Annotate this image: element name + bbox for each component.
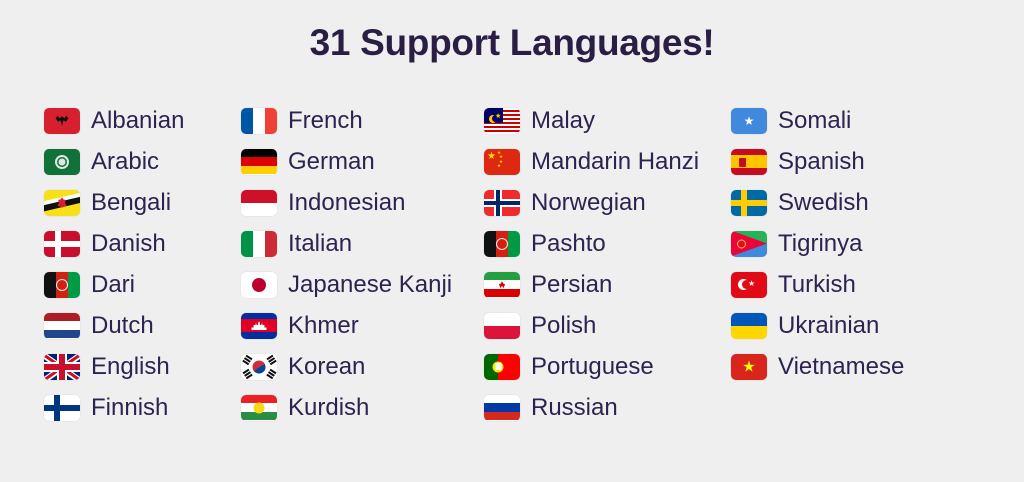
language-label: Bengali: [91, 189, 171, 217]
language-item[interactable]: Portuguese: [484, 346, 731, 387]
language-label: Kurdish: [288, 394, 369, 422]
russia-flag-icon: [484, 395, 520, 421]
finland-flag-icon: [44, 395, 80, 421]
poland-flag-icon: [484, 313, 520, 339]
turkey-flag-icon: ★: [731, 272, 767, 298]
language-label: Indonesian: [288, 189, 405, 217]
eritrea-flag-icon: [731, 231, 767, 257]
afghanistan-flag-icon: [44, 272, 80, 298]
language-columns: Albanian Arabic Bengali Danish: [0, 100, 1024, 428]
afghanistan-flag-icon: [484, 231, 520, 257]
language-item[interactable]: Finnish: [44, 387, 241, 428]
language-item[interactable]: Persian: [484, 264, 731, 305]
language-label: French: [288, 107, 363, 135]
china-flag-icon: ★ ★ ★ ★ ★: [484, 149, 520, 175]
language-item[interactable]: French: [241, 100, 484, 141]
norway-flag-icon: [484, 190, 520, 216]
portugal-flag-icon: [484, 354, 520, 380]
language-item[interactable]: ★ ★ ★ ★ ★ Mandarin Hanzi: [484, 141, 731, 182]
language-column-3: ★ Malay ★ ★ ★ ★ ★ Mandarin Hanzi: [484, 100, 731, 428]
language-label: Italian: [288, 230, 352, 258]
language-label: Portuguese: [531, 353, 654, 381]
language-label: Albanian: [91, 107, 184, 135]
albania-flag-icon: [44, 108, 80, 134]
language-label: Mandarin Hanzi: [531, 148, 699, 176]
language-support-banner: 31 Support Languages! Albanian Arabic: [0, 0, 1024, 482]
language-item[interactable]: Polish: [484, 305, 731, 346]
language-column-1: Albanian Arabic Bengali Danish: [0, 100, 241, 428]
language-column-4: ★ Somali Spanish Swedish: [731, 100, 980, 428]
brunei-flag-icon: [44, 190, 80, 216]
language-label: Polish: [531, 312, 596, 340]
language-label: Dutch: [91, 312, 154, 340]
language-item[interactable]: Pashto: [484, 223, 731, 264]
language-label: Dari: [91, 271, 135, 299]
language-item[interactable]: Albanian: [44, 100, 241, 141]
language-label: Danish: [91, 230, 166, 258]
language-item[interactable]: Spanish: [731, 141, 980, 182]
language-label: Malay: [531, 107, 595, 135]
language-item[interactable]: Ukrainian: [731, 305, 980, 346]
language-item[interactable]: ★ Somali: [731, 100, 980, 141]
language-label: Khmer: [288, 312, 359, 340]
language-label: Finnish: [91, 394, 168, 422]
language-label: Somali: [778, 107, 851, 135]
language-item[interactable]: Tigrinya: [731, 223, 980, 264]
language-item[interactable]: German: [241, 141, 484, 182]
language-label: Pashto: [531, 230, 606, 258]
language-item[interactable]: Danish: [44, 223, 241, 264]
united-kingdom-flag-icon: [44, 354, 80, 380]
language-item[interactable]: ★ Vietnamese: [731, 346, 980, 387]
malaysia-flag-icon: ★: [484, 108, 520, 134]
language-item[interactable]: Korean: [241, 346, 484, 387]
language-column-2: French German Indonesian Italian: [241, 100, 484, 428]
language-item[interactable]: Dutch: [44, 305, 241, 346]
language-item[interactable]: ★ Malay: [484, 100, 731, 141]
language-label: Russian: [531, 394, 618, 422]
language-label: English: [91, 353, 170, 381]
kurdistan-flag-icon: [241, 395, 277, 421]
iran-flag-icon: [484, 272, 520, 298]
language-label: Japanese Kanji: [288, 271, 452, 299]
language-item[interactable]: Russian: [484, 387, 731, 428]
language-label: Arabic: [91, 148, 159, 176]
indonesia-flag-icon: [241, 190, 277, 216]
language-label: Spanish: [778, 148, 865, 176]
language-item[interactable]: Bengali: [44, 182, 241, 223]
language-item[interactable]: English: [44, 346, 241, 387]
language-label: Persian: [531, 271, 612, 299]
language-item[interactable]: Indonesian: [241, 182, 484, 223]
language-label: Turkish: [778, 271, 856, 299]
language-item[interactable]: Norwegian: [484, 182, 731, 223]
italy-flag-icon: [241, 231, 277, 257]
ukraine-flag-icon: [731, 313, 767, 339]
spain-flag-icon: [731, 149, 767, 175]
sweden-flag-icon: [731, 190, 767, 216]
germany-flag-icon: [241, 149, 277, 175]
netherlands-flag-icon: [44, 313, 80, 339]
language-label: Norwegian: [531, 189, 646, 217]
language-item[interactable]: ★ Turkish: [731, 264, 980, 305]
language-label: Ukrainian: [778, 312, 879, 340]
japan-flag-icon: [241, 272, 277, 298]
page-title: 31 Support Languages!: [0, 22, 1024, 64]
language-label: Swedish: [778, 189, 869, 217]
language-item[interactable]: Arabic: [44, 141, 241, 182]
arab-league-flag-icon: [44, 149, 80, 175]
denmark-flag-icon: [44, 231, 80, 257]
language-item[interactable]: Italian: [241, 223, 484, 264]
somalia-flag-icon: ★: [731, 108, 767, 134]
language-label: Korean: [288, 353, 365, 381]
language-label: Tigrinya: [778, 230, 862, 258]
language-label: Vietnamese: [778, 353, 904, 381]
language-item[interactable]: Swedish: [731, 182, 980, 223]
language-label: German: [288, 148, 375, 176]
language-item[interactable]: Kurdish: [241, 387, 484, 428]
vietnam-flag-icon: ★: [731, 354, 767, 380]
language-item[interactable]: Khmer: [241, 305, 484, 346]
france-flag-icon: [241, 108, 277, 134]
cambodia-flag-icon: [241, 313, 277, 339]
south-korea-flag-icon: [241, 354, 277, 380]
language-item[interactable]: Japanese Kanji: [241, 264, 484, 305]
language-item[interactable]: Dari: [44, 264, 241, 305]
